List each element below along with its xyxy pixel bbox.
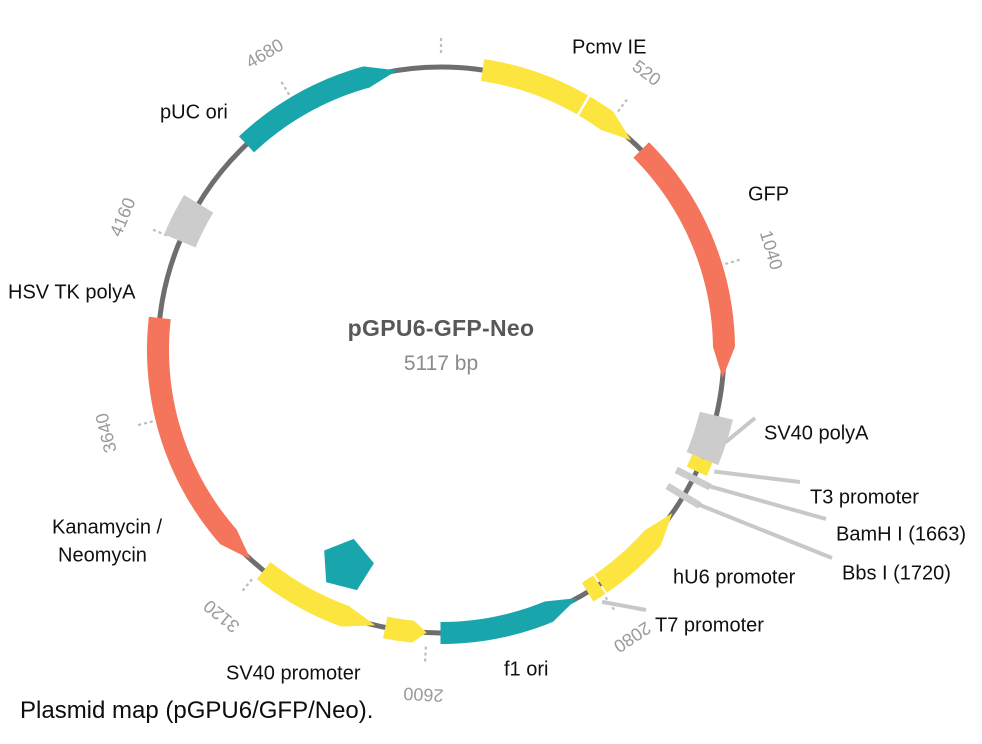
tick-line [242,579,252,591]
feature-pcmv-ie[interactable] [481,59,631,140]
feature-unlabeled[interactable] [383,617,427,643]
figure-caption: Plasmid map (pGPU6/GFP/Neo). [20,697,373,725]
tick-4160: 4160 [106,195,167,240]
label-puc-ori[interactable]: pUC ori [160,102,228,124]
tick-label-1040: 1040 [756,228,787,272]
label-gfp[interactable]: GFP [748,184,789,206]
label-kanamycin[interactable]: Kanamycin / [52,517,162,539]
plasmid-name: pGPU6-GFP-Neo [348,315,535,341]
label-bbs-i-1720[interactable]: Bbs I (1720) [842,563,951,585]
feature-kanamycin-neomycin[interactable] [147,317,250,559]
tick-label-520: 520 [629,56,665,90]
plasmid-map-svg: 5201040208026003120364041604680 Pcmv IEG… [0,0,982,744]
leader-t7-promoter [602,602,646,610]
tick-label-2600: 2600 [403,684,444,706]
tick-label-4160: 4160 [106,195,140,240]
tick-line [725,259,740,264]
label-neomycin[interactable]: Neomycin [58,545,147,567]
label-sv40-promoter[interactable]: SV40 promoter [226,663,361,685]
label-sv40-polya[interactable]: SV40 polyA [764,423,869,445]
site-bbs-i-1720[interactable] [667,486,700,506]
tick-line [425,647,426,663]
tick-3640: 3640 [92,411,153,455]
tick-1040: 1040 [725,228,786,272]
label-bamh-i-1663[interactable]: BamH I (1663) [836,524,966,546]
tick-label-3120: 3120 [200,596,244,637]
leader-t3-promoter [714,471,800,482]
label-pcmv-ie[interactable]: Pcmv IE [572,37,646,59]
plasmid-length: 5117 bp [404,352,478,375]
label-t7-promoter[interactable]: T7 promoter [655,615,764,637]
label-hsv-tk-polya[interactable]: HSV TK polyA [8,282,136,304]
tick-4680: 4680 [242,35,289,95]
label-f1-ori[interactable]: f1 ori [504,659,548,681]
plasmid-map-figure: 5201040208026003120364041604680 Pcmv IEG… [0,0,982,744]
feature-inner-pentagon[interactable] [324,539,374,590]
tick-label-3640: 3640 [92,411,121,455]
tick-label-4680: 4680 [242,35,287,73]
tick-2600: 2600 [403,647,444,706]
leader-bbsi-1720 [697,504,832,558]
tick-line [137,421,153,425]
tick-line [281,81,289,95]
feature-hsv-tk-polya[interactable] [164,195,213,248]
feature-gfp[interactable] [633,142,735,378]
tick-3120: 3120 [200,579,252,636]
feature-hu6-promoter[interactable] [595,513,673,592]
label-t3-promoter[interactable]: T3 promoter [810,487,919,509]
label-hu6-promoter[interactable]: hU6 promoter [673,567,796,589]
feature-f1-ori[interactable] [440,598,577,644]
feature-puc-ori[interactable] [239,66,397,152]
tick-label-2080: 2080 [610,618,654,657]
tick-line [618,99,628,112]
tick-520: 520 [618,56,665,112]
